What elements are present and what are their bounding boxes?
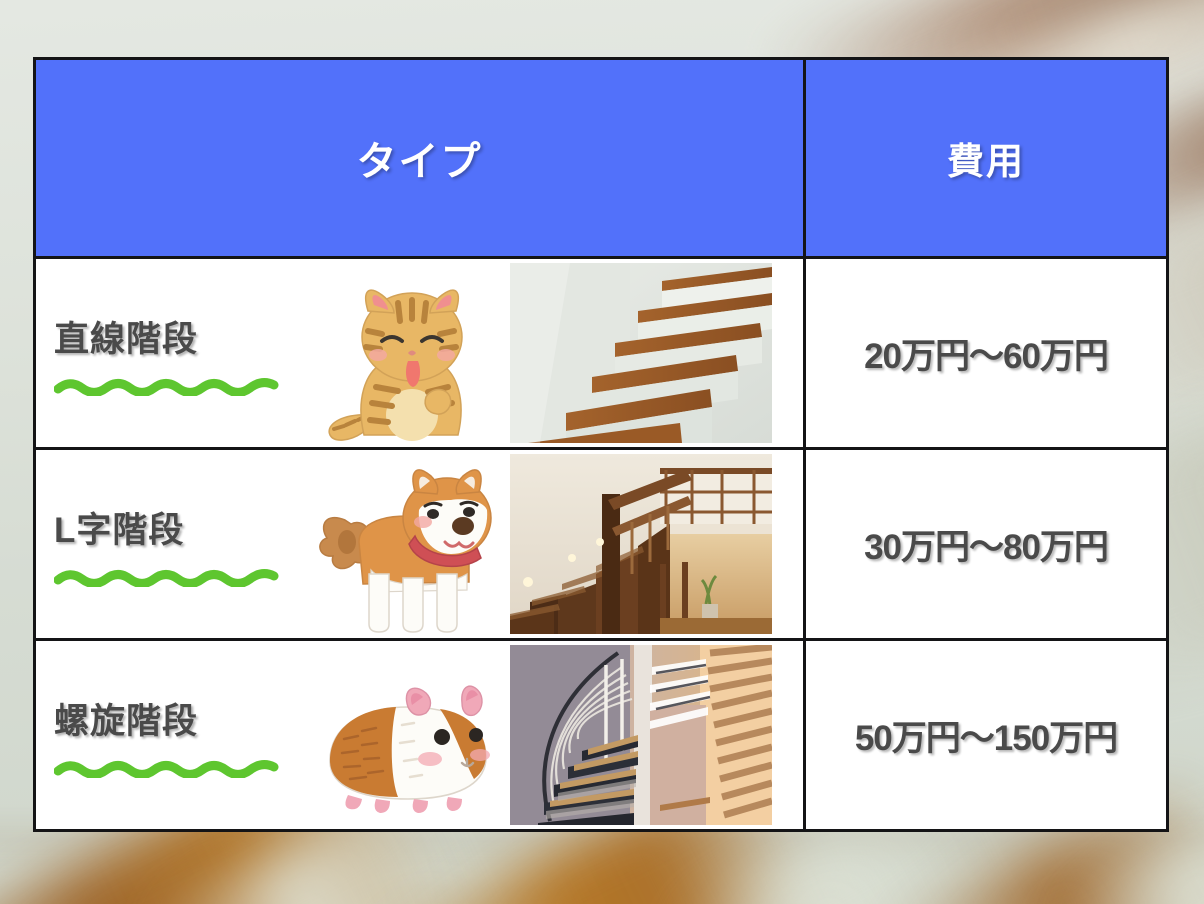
guinea-pig-illustration xyxy=(304,641,504,829)
type-label-block: L字階段 xyxy=(54,502,304,587)
table-row: L字階段 xyxy=(36,450,1166,641)
type-label-block: 螺旋階段 xyxy=(54,693,304,778)
type-cell: 直線階段 xyxy=(36,259,803,447)
straight-staircase-photo xyxy=(510,263,772,443)
cat-illustration xyxy=(304,259,504,447)
cost-value: 50万円〜150万円 xyxy=(855,710,1117,761)
table-header-row: タイプ 費用 xyxy=(36,60,1166,259)
column-header-type-label: タイプ xyxy=(357,129,483,187)
cost-value: 20万円〜60万円 xyxy=(864,328,1108,379)
cost-cell: 30万円〜80万円 xyxy=(803,450,1166,638)
type-cell: 螺旋階段 xyxy=(36,641,803,829)
cost-cell: 20万円〜60万円 xyxy=(803,259,1166,447)
cost-value: 30万円〜80万円 xyxy=(864,519,1108,570)
stair-cost-table: タイプ 費用 直線階段 xyxy=(33,57,1169,832)
type-label: 直線階段 xyxy=(54,311,304,362)
dog-illustration xyxy=(304,450,504,638)
type-label: 螺旋階段 xyxy=(54,693,304,744)
column-header-cost-label: 費用 xyxy=(947,131,1025,185)
l-shaped-staircase-photo xyxy=(510,454,772,634)
cost-cell: 50万円〜150万円 xyxy=(803,641,1166,829)
spiral-staircase-photo xyxy=(510,645,772,825)
column-header-cost: 費用 xyxy=(803,60,1166,256)
type-label-block: 直線階段 xyxy=(54,311,304,396)
table-row: 螺旋階段 xyxy=(36,641,1166,829)
green-wave-underline xyxy=(54,758,282,778)
green-wave-underline xyxy=(54,376,282,396)
column-header-type: タイプ xyxy=(36,60,803,256)
type-label: L字階段 xyxy=(54,502,304,553)
table-row: 直線階段 xyxy=(36,259,1166,450)
green-wave-underline xyxy=(54,567,282,587)
type-cell: L字階段 xyxy=(36,450,803,638)
